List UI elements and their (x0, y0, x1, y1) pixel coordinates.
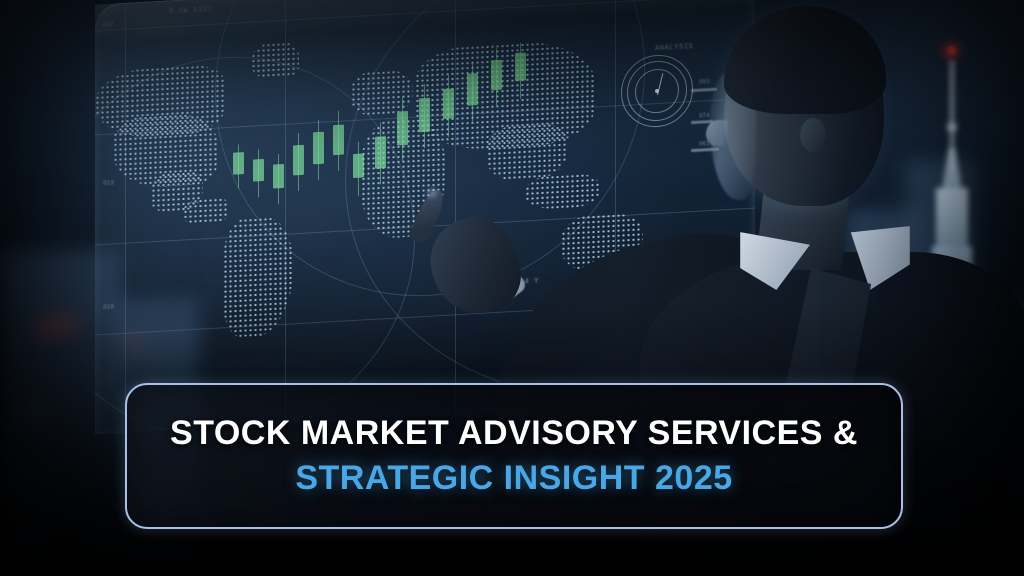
candle-body (273, 164, 284, 189)
candle-body (313, 132, 324, 165)
candle-body (397, 111, 408, 146)
nose (706, 120, 728, 146)
candle-body (515, 52, 526, 81)
candle-body (253, 159, 264, 182)
hud-axis-label: 007 (103, 21, 114, 29)
hud-axis-label: 010 (103, 303, 114, 311)
candle-body (467, 73, 478, 106)
candle-body (353, 153, 364, 178)
candle-body (375, 136, 386, 169)
title-line-1: STOCK MARKET ADVISORY SERVICES & (170, 414, 858, 453)
ear (800, 118, 826, 152)
candle-body (491, 60, 502, 91)
hair (724, 6, 886, 114)
candle-body (233, 152, 244, 175)
candle-body (419, 98, 430, 133)
title-banner: STOCK MARKET ADVISORY SERVICES & STRATEG… (125, 383, 903, 529)
hud-axis-label: 013 (103, 179, 114, 187)
candle-body (443, 88, 454, 119)
fingertip-glow (424, 186, 440, 200)
title-line-2: STRATEGIC INSIGHT 2025 (295, 459, 732, 498)
candle-body (293, 145, 304, 176)
candle-body (333, 125, 344, 156)
poster-canvas: 0.6W 5337 1237 ANALYSIS 0.4 Y 013 010 00… (0, 0, 1024, 576)
